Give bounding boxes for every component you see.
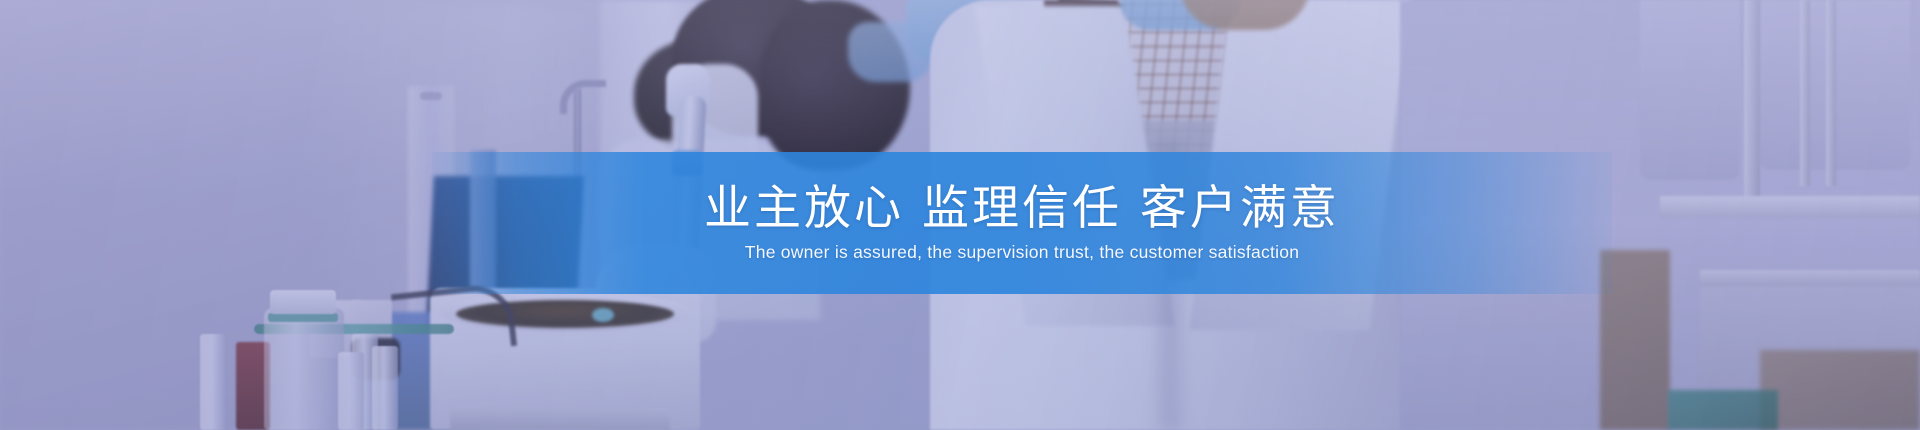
headline-band-content: 业主放心 监理信任 客户满意 The owner is assured, the… bbox=[432, 152, 1612, 294]
banner-subline: The owner is assured, the supervision tr… bbox=[745, 242, 1299, 263]
banner-headline: 业主放心 监理信任 客户满意 bbox=[704, 183, 1340, 236]
banner-stage: 业主放心 监理信任 客户满意 The owner is assured, the… bbox=[0, 0, 1920, 430]
headline-band: 业主放心 监理信任 客户满意 The owner is assured, the… bbox=[432, 152, 1612, 294]
